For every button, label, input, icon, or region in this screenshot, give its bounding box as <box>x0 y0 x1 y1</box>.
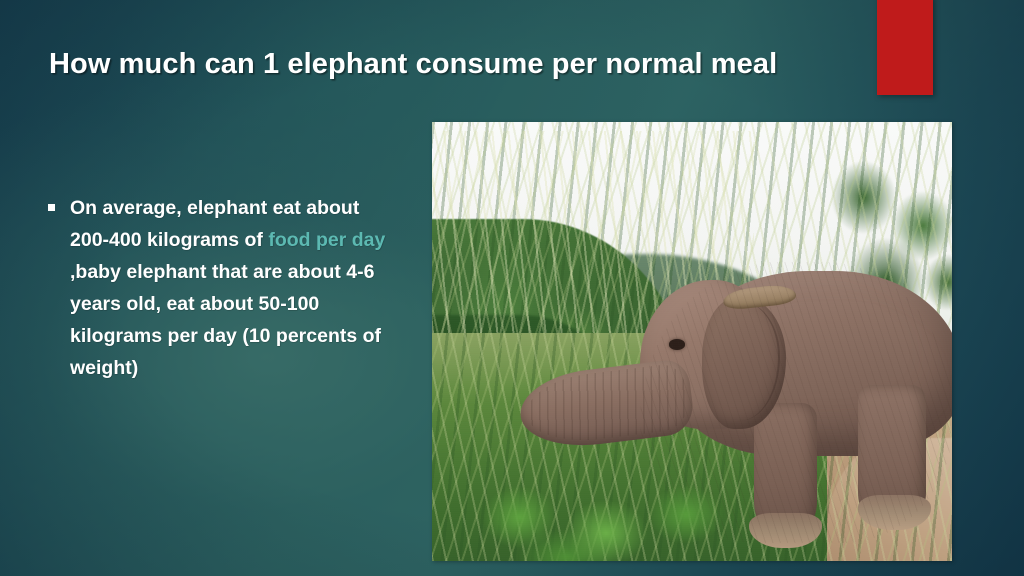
elephant-photo <box>432 122 952 561</box>
red-accent-rectangle <box>877 0 933 95</box>
slide-title: How much can 1 elephant consume per norm… <box>49 46 849 82</box>
bullet-text-accent-phrase: food per day <box>268 229 385 251</box>
bullet-item-text: On average, elephant eat about 200-400 k… <box>70 192 400 384</box>
undergrowth-foliage <box>453 438 786 561</box>
square-bullet-icon <box>48 204 55 211</box>
bullet-list-item: On average, elephant eat about 200-400 k… <box>48 192 400 384</box>
body-text-block: On average, elephant eat about 200-400 k… <box>48 192 400 384</box>
photo-content <box>432 122 952 561</box>
elephant-eye <box>669 339 686 350</box>
bullet-text-segment-2: ,baby elephant that are about 4-6 years … <box>70 261 381 379</box>
presentation-slide: How much can 1 elephant consume per norm… <box>0 0 1024 576</box>
